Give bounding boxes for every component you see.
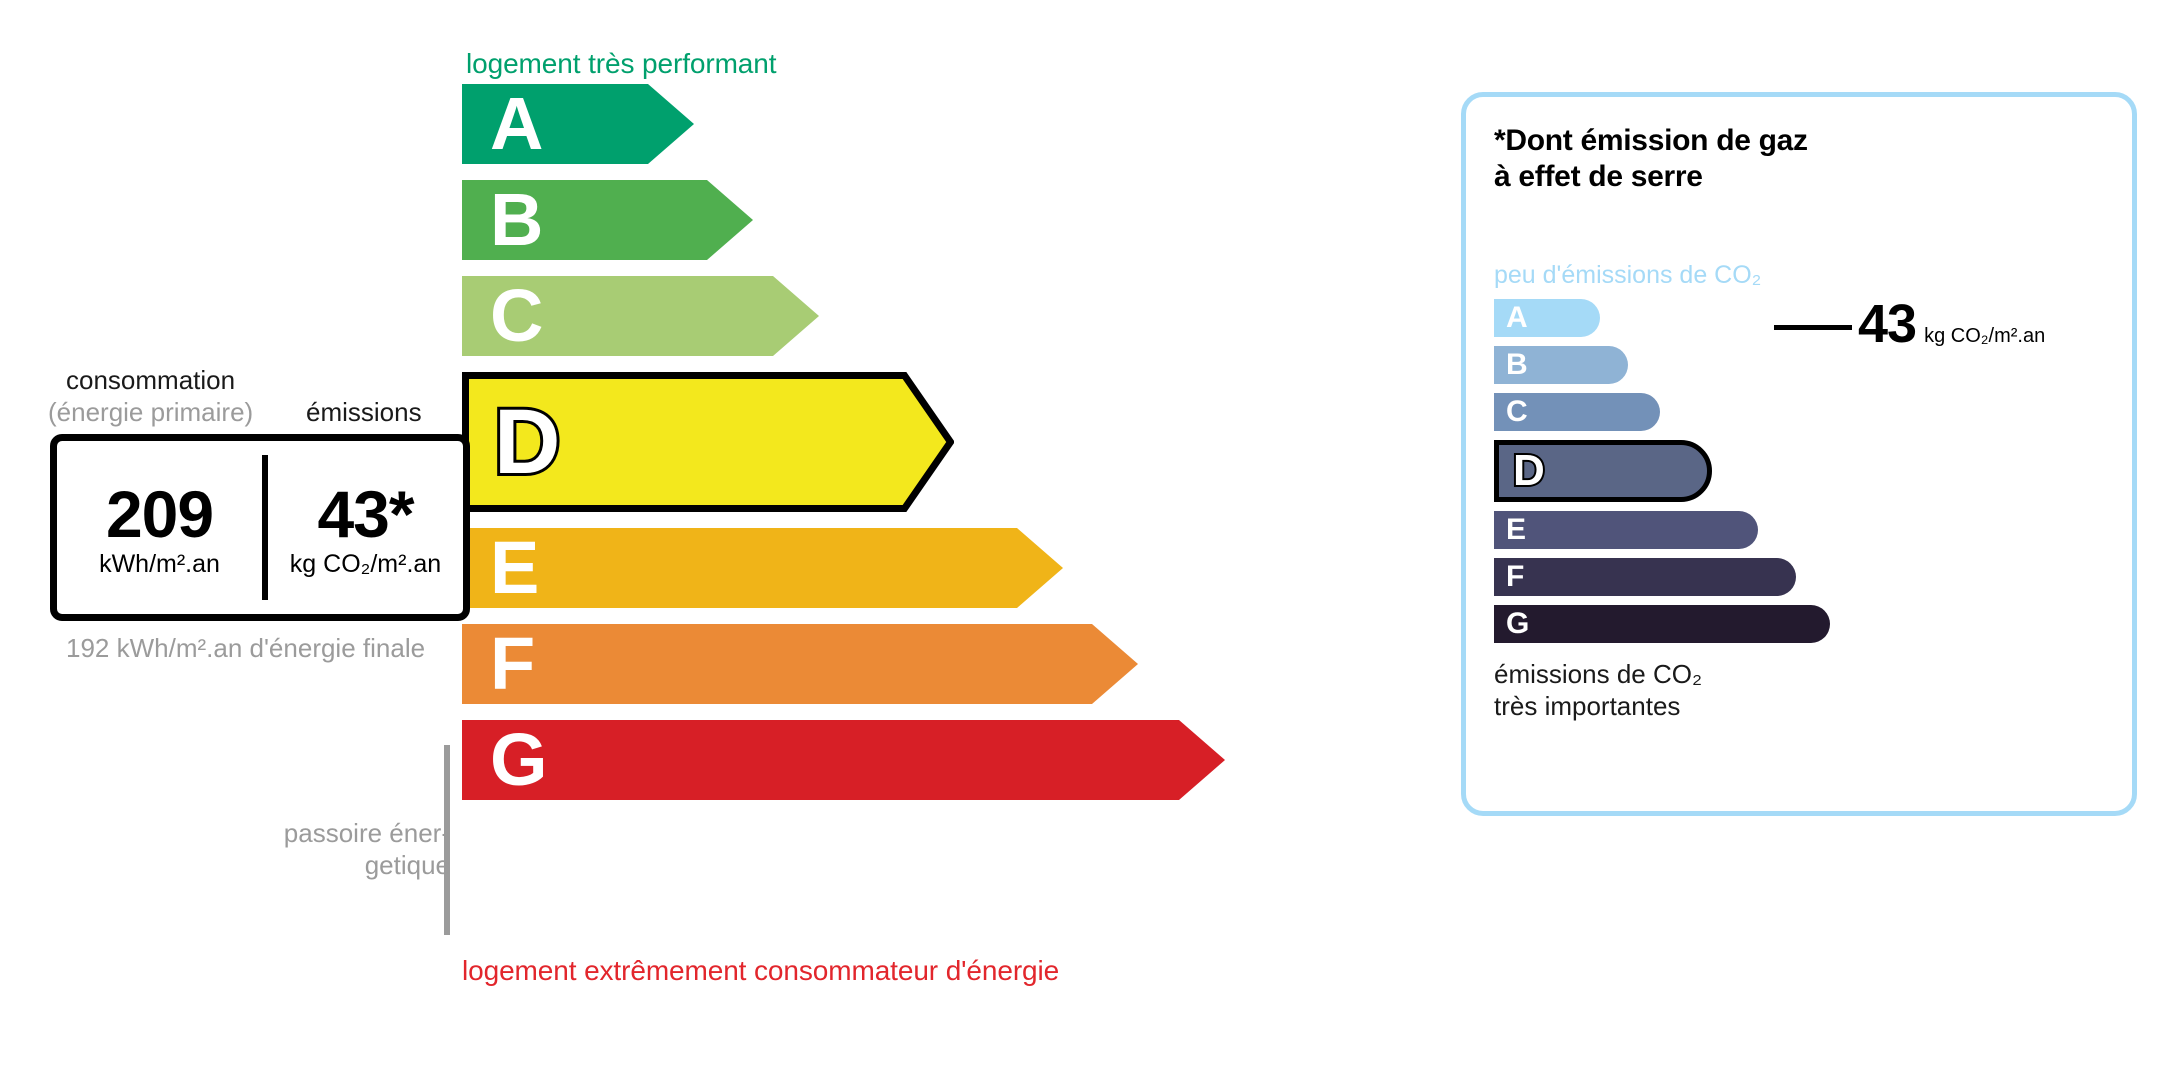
energy-arrow-shape-b: B	[462, 180, 753, 260]
co2-bar-shape-c: C	[1494, 393, 1660, 431]
final-energy-note: 192 kWh/m².an d'énergie finale	[66, 632, 425, 664]
co2-panel: *Dont émission de gaz à effet de serre p…	[1461, 92, 2137, 816]
co2-bar-letter-f: F	[1506, 562, 1524, 592]
co2-bar-a: A	[1494, 299, 1600, 337]
co2-callout-unit: kg CO₂/m².an	[1924, 325, 2045, 348]
energy-arrow-shape-c: C	[462, 276, 819, 356]
energy-arrow-letter-a: A	[490, 87, 543, 161]
co2-bar-b: B	[1494, 346, 1628, 384]
primary-energy-value: 209	[106, 482, 213, 547]
energy-arrow-shape-d: D	[462, 372, 954, 512]
energy-top-caption: logement très performant	[466, 48, 776, 80]
energy-arrow-b: B	[462, 180, 753, 260]
co2-bar-letter-d: D	[1513, 449, 1545, 493]
emissions-value: 43*	[317, 482, 413, 547]
emissions-unit: kg CO₂/m².an	[290, 550, 441, 579]
primary-energy-cell: 209 kWh/m².an	[57, 441, 262, 614]
co2-callout-value: 43	[1858, 293, 1916, 355]
co2-bottom-caption: émissions de CO₂ très importantes	[1494, 659, 1702, 722]
energy-arrow-letter-g: G	[490, 723, 548, 797]
co2-bar-letter-b: B	[1506, 350, 1528, 380]
energy-arrow-letter-c: C	[490, 279, 543, 353]
energy-scale-chart: logement très performant ABCDEFG logemen…	[0, 0, 1320, 1079]
emissions-cell: 43* kg CO₂/m².an	[268, 441, 463, 614]
co2-bar-e: E	[1494, 511, 1758, 549]
co2-bar-shape-e: E	[1494, 511, 1758, 549]
co2-bar-shape-g: G	[1494, 605, 1830, 643]
co2-bar-shape-f: F	[1494, 558, 1796, 596]
co2-bar-shape-d: D	[1494, 440, 1712, 502]
energy-arrow-e: E	[462, 528, 1063, 608]
energy-arrow-letter-b: B	[490, 183, 543, 257]
co2-bar-g: G	[1494, 605, 1830, 643]
energy-arrow-c: C	[462, 276, 819, 356]
energy-arrow-letter-f: F	[490, 627, 535, 701]
co2-leader-line	[1774, 325, 1852, 330]
energy-arrow-letter-d: D	[494, 396, 560, 488]
energy-arrow-shape-g: G	[462, 720, 1225, 800]
label-consommation: consommation	[66, 365, 235, 396]
co2-bar-shape-a: A	[1494, 299, 1600, 337]
passoire-label: passoire éner­getique	[270, 818, 450, 881]
energy-arrow-d: D	[462, 372, 954, 512]
co2-panel-title: *Dont émission de gaz à effet de serre	[1494, 123, 1808, 195]
co2-bar-f: F	[1494, 558, 1796, 596]
energy-arrow-shape-f: F	[462, 624, 1138, 704]
energy-arrow-a: A	[462, 84, 694, 164]
co2-bar-shape-b: B	[1494, 346, 1628, 384]
co2-top-caption: peu d'émissions de CO₂	[1494, 261, 1761, 290]
label-emissions: émissions	[306, 397, 422, 428]
primary-energy-unit: kWh/m².an	[99, 550, 220, 579]
label-energie-primaire: (énergie primaire)	[48, 397, 253, 428]
energy-arrow-shape-a: A	[462, 84, 694, 164]
dpe-diagram: logement très performant ABCDEFG logemen…	[0, 0, 2169, 1079]
energy-bottom-caption: logement extrêmement consommateur d'éner…	[462, 955, 1059, 987]
co2-bar-letter-a: A	[1506, 303, 1528, 333]
co2-callout: 43 kg CO₂/m².an	[1858, 293, 2045, 355]
co2-bar-d: D	[1494, 440, 1712, 502]
co2-bar-c: C	[1494, 393, 1660, 431]
value-box: 209 kWh/m².an 43* kg CO₂/m².an	[50, 434, 470, 621]
energy-arrow-shape-e: E	[462, 528, 1063, 608]
co2-bar-letter-e: E	[1506, 515, 1526, 545]
energy-arrow-f: F	[462, 624, 1138, 704]
energy-arrow-letter-e: E	[490, 531, 539, 605]
co2-bar-letter-g: G	[1506, 609, 1529, 639]
co2-bar-letter-c: C	[1506, 397, 1528, 427]
energy-arrow-g: G	[462, 720, 1225, 800]
